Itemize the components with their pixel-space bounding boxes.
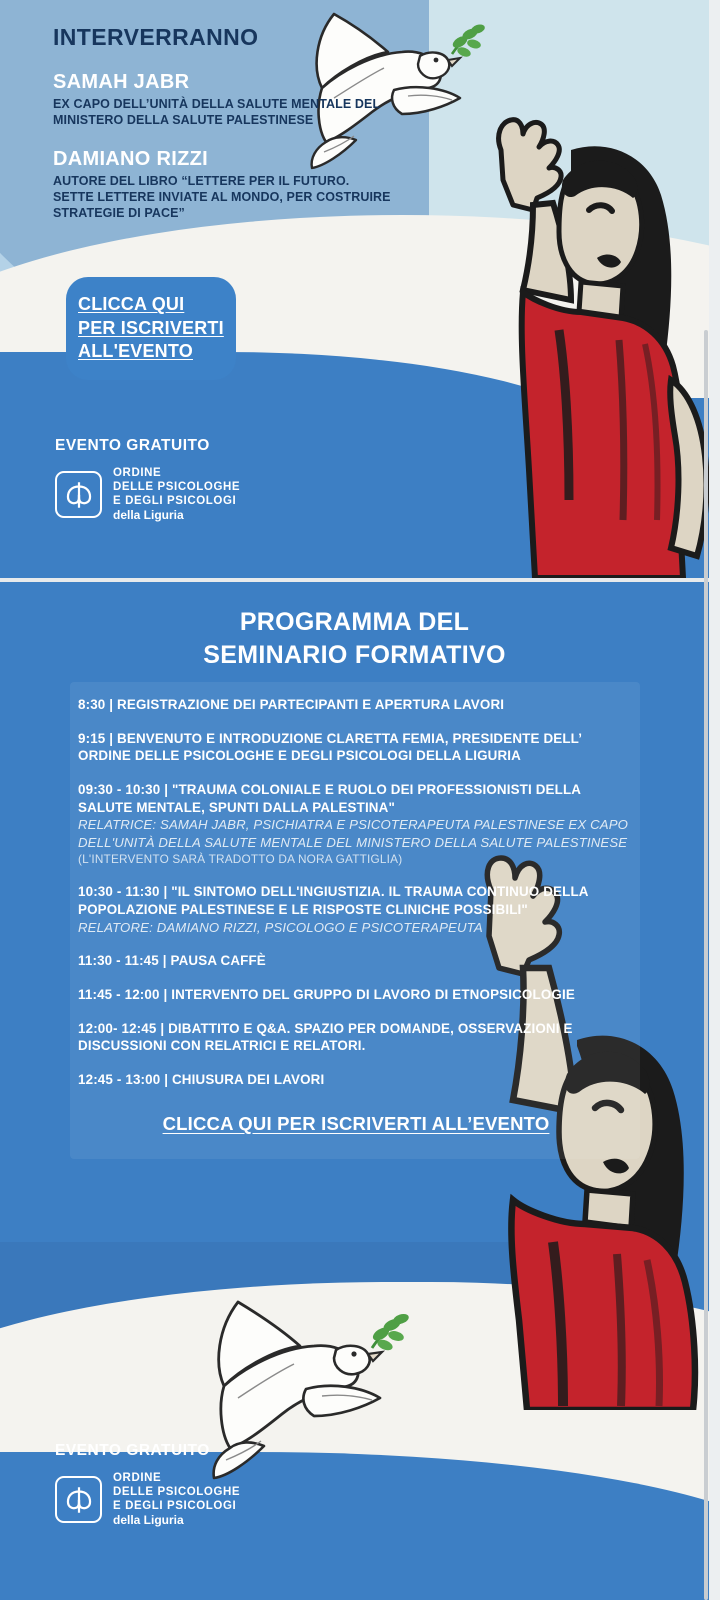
logo-text: ORDINE DELLE PSICOLOGHE E DEGLI PSICOLOG… bbox=[113, 466, 240, 524]
schedule-item-main: 8:30 | REGISTRAZIONE DEI PARTECIPANTI E … bbox=[78, 696, 634, 714]
schedule-item-main: 11:45 - 12:00 | INTERVENTO DEL GRUPPO DI… bbox=[78, 986, 634, 1004]
cta-line-1: CLICCA QUI bbox=[78, 293, 184, 316]
cta-line-2: PER ISCRIVERTI bbox=[78, 317, 224, 340]
logo-row: ORDINE DELLE PSICOLOGHE E DEGLI PSICOLOG… bbox=[55, 466, 240, 524]
logo-line-1: ORDINE bbox=[113, 466, 240, 480]
free-event-label: EVENTO GRATUITO bbox=[55, 1442, 240, 1460]
screenshot-root: INTERVERRANNO SAMAH JABR EX CAPO DELL’UN… bbox=[0, 0, 720, 1600]
logo-line-1: ORDINE bbox=[113, 1471, 240, 1485]
logo-line-4: della Liguria bbox=[113, 508, 240, 524]
schedule-item-main: 09:30 - 10:30 | "TRAUMA COLONIALE E RUOL… bbox=[78, 781, 634, 816]
schedule-item: 12:45 - 13:00 | CHIUSURA DEI LAVORI bbox=[78, 1071, 634, 1089]
programme-title-line-1: PROGRAMMA DEL bbox=[0, 606, 709, 639]
programme-title-line-2: SEMINARIO FORMATIVO bbox=[0, 639, 709, 672]
schedule-item-speaker: RELATORE: DAMIANO RIZZI, PSICOLOGO E PSI… bbox=[78, 919, 634, 937]
free-event-label: EVENTO GRATUITO bbox=[55, 437, 240, 455]
logo-line-2: DELLE PSICOLOGHE bbox=[113, 480, 240, 494]
logo-row: ORDINE DELLE PSICOLOGHE E DEGLI PSICOLOG… bbox=[55, 1471, 240, 1529]
right-gutter bbox=[709, 0, 720, 1600]
footer-logo-block-bottom: EVENTO GRATUITO ORDINE DELLE PSICOLOGHE … bbox=[55, 1442, 240, 1529]
schedule-item: 09:30 - 10:30 | "TRAUMA COLONIALE E RUOL… bbox=[78, 781, 634, 867]
speaker-1-role: EX CAPO DELL’UNITÀ DELLA SALUTE MENTALE … bbox=[53, 96, 393, 128]
register-cta-button-top[interactable]: CLICCA QUI PER ISCRIVERTI ALL'EVENTO bbox=[66, 277, 236, 380]
logo-text: ORDINE DELLE PSICOLOGHE E DEGLI PSICOLOG… bbox=[113, 1471, 240, 1529]
logo-line-3: E DEGLI PSICOLOGI bbox=[113, 494, 240, 508]
speaker-2-name: DAMIANO RIZZI bbox=[53, 148, 393, 171]
speaker-2-role: AUTORE DEL LIBRO “LETTERE PER IL FUTURO.… bbox=[53, 173, 393, 221]
schedule-item-main: 9:15 | BENVENUTO E INTRODUZIONE CLARETTA… bbox=[78, 730, 634, 765]
programme-title: PROGRAMMA DEL SEMINARIO FORMATIVO bbox=[0, 606, 709, 671]
schedule-item: 10:30 - 11:30 | "IL SINTOMO DELL'INGIUST… bbox=[78, 883, 634, 936]
schedule-item: 9:15 | BENVENUTO E INTRODUZIONE CLARETTA… bbox=[78, 730, 634, 765]
schedule-item-main: 11:30 - 11:45 | PAUSA CAFFÈ bbox=[78, 952, 634, 970]
psi-symbol-icon bbox=[55, 1476, 102, 1523]
logo-line-3: E DEGLI PSICOLOGI bbox=[113, 1499, 240, 1513]
page-title: INTERVERRANNO bbox=[53, 24, 393, 51]
poster-top: INTERVERRANNO SAMAH JABR EX CAPO DELL’UN… bbox=[0, 0, 709, 578]
cta-line-3: ALL'EVENTO bbox=[78, 340, 193, 363]
poster-bottom: PROGRAMMA DEL SEMINARIO FORMATIVO 8:30 |… bbox=[0, 582, 709, 1600]
psi-symbol-icon bbox=[55, 471, 102, 518]
schedule-item-speaker: RELATRICE: SAMAH JABR, PSICHIATRA E PSIC… bbox=[78, 816, 634, 851]
schedule-item: 11:45 - 12:00 | INTERVENTO DEL GRUPPO DI… bbox=[78, 986, 634, 1004]
bg-blue-footer-lower-2 bbox=[0, 1542, 709, 1600]
register-cta-link-bottom[interactable]: CLICCA QUI PER ISCRIVERTI ALL’EVENTO bbox=[78, 1113, 634, 1135]
logo-line-2: DELLE PSICOLOGHE bbox=[113, 1485, 240, 1499]
schedule-item: 12:00- 12:45 | DIBATTITO E Q&A. SPAZIO P… bbox=[78, 1020, 634, 1055]
speaker-1-name: SAMAH JABR bbox=[53, 71, 393, 94]
poster-separator bbox=[0, 578, 709, 582]
schedule-item-note: (L'INTERVENTO SARÀ TRADOTTO DA NORA GATT… bbox=[78, 852, 634, 867]
register-cta-label: CLICCA QUI PER ISCRIVERTI ALL’EVENTO bbox=[163, 1113, 550, 1134]
schedule-item: 11:30 - 11:45 | PAUSA CAFFÈ bbox=[78, 952, 634, 970]
schedule-item-main: 12:00- 12:45 | DIBATTITO E Q&A. SPAZIO P… bbox=[78, 1020, 634, 1055]
schedule-item-main: 10:30 - 11:30 | "IL SINTOMO DELL'INGIUST… bbox=[78, 883, 634, 918]
schedule-item: 8:30 | REGISTRAZIONE DEI PARTECIPANTI E … bbox=[78, 696, 634, 714]
schedule-item-main: 12:45 - 13:00 | CHIUSURA DEI LAVORI bbox=[78, 1071, 634, 1089]
logo-line-4: della Liguria bbox=[113, 1513, 240, 1529]
top-text-block: INTERVERRANNO SAMAH JABR EX CAPO DELL’UN… bbox=[53, 24, 393, 221]
footer-logo-block-top: EVENTO GRATUITO ORDINE DELLE PSICOLOGHE … bbox=[55, 437, 240, 524]
programme-panel: 8:30 | REGISTRAZIONE DEI PARTECIPANTI E … bbox=[70, 682, 640, 1159]
vertical-scrollbar[interactable] bbox=[704, 330, 708, 1600]
